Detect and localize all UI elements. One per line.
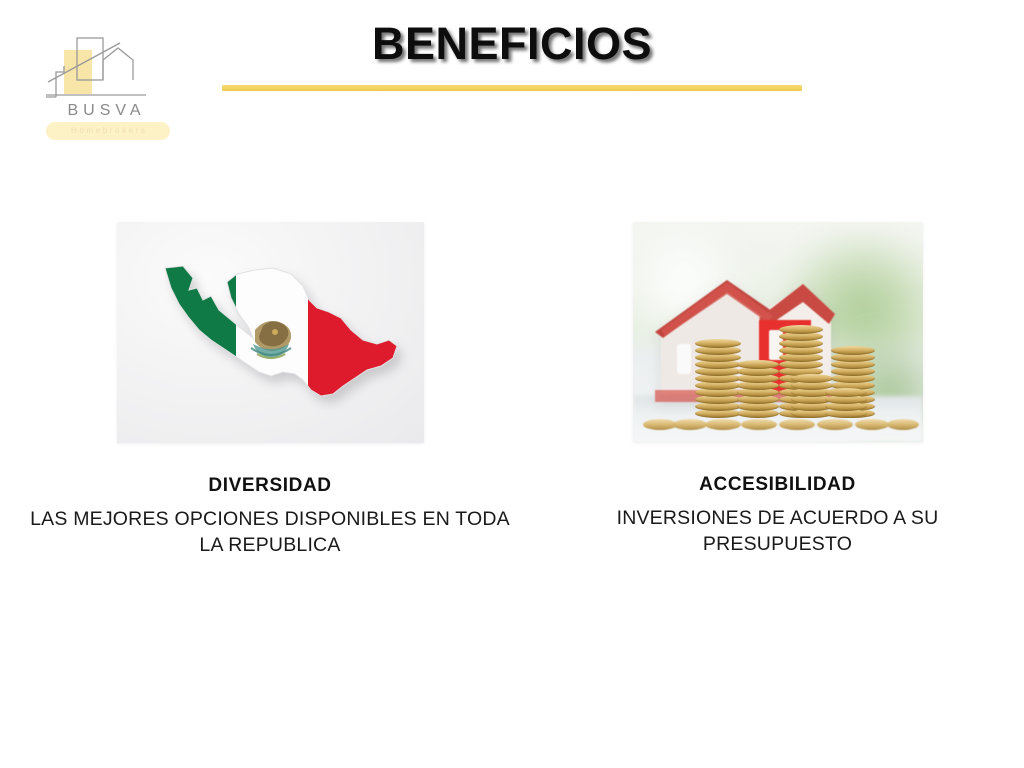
coin-stack-6 (825, 378, 867, 418)
benefit-caption-accesibilidad: ACCESIBILIDAD INVERSIONES DE ACUERDO A S… (545, 472, 1010, 558)
benefit-title: ACCESIBILIDAD (545, 472, 1010, 497)
logo-tagline: Homebrokers (46, 122, 170, 140)
coin-floor-2 (673, 419, 707, 430)
benefit-caption-diversidad: DIVERSIDAD LAS MEJORES OPCIONES DISPONIB… (20, 473, 520, 559)
coin-floor-6 (817, 419, 853, 430)
coin-floor-4 (741, 419, 777, 430)
benefit-body: LAS MEJORES OPCIONES DISPONIBLES EN TODA… (20, 507, 520, 558)
slide-canvas: BUSVA Homebrokers BENEFICIOS (0, 0, 1024, 768)
coin-floor-1 (643, 419, 677, 430)
coin-stack-2 (737, 356, 779, 418)
coin-floor-5 (779, 419, 815, 430)
page-title: BENEFICIOS (0, 18, 1024, 70)
logo-wordmark: BUSVA (34, 102, 174, 120)
house-and-coins-image (633, 222, 923, 442)
benefit-title: DIVERSIDAD (20, 473, 520, 498)
coin-floor-8 (887, 419, 919, 430)
logo-tagline-highlight: Homebrokers (46, 122, 170, 140)
coin-floor-3 (705, 419, 741, 430)
benefit-column-accesibilidad: ACCESIBILIDAD INVERSIONES DE ACUERDO A S… (545, 222, 1010, 558)
title-underline-rule (222, 85, 802, 91)
coin-floor-7 (855, 419, 889, 430)
mexico-map-flag-image (117, 222, 424, 443)
benefit-column-diversidad: DIVERSIDAD LAS MEJORES OPCIONES DISPONIB… (20, 222, 520, 559)
benefit-body: INVERSIONES DE ACUERDO A SU PRESUPUESTO (545, 506, 1010, 557)
coin-stack-1 (695, 332, 741, 418)
mexico-map-shape (131, 244, 411, 424)
